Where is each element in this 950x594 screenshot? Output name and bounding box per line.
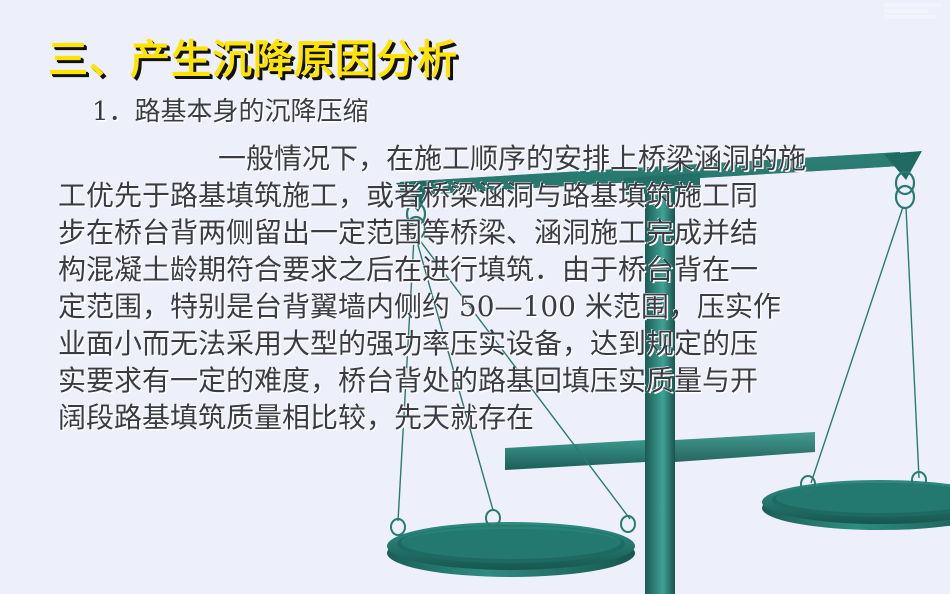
watermark-bar	[884, 9, 928, 13]
paragraph-line: 定范围，特别是台背翼墙内侧约 50—100 米范围，压实作	[58, 288, 938, 325]
paragraph-line: 步在桥台背两侧留出一定范围等桥梁、涵洞施工完成并结	[58, 214, 938, 251]
slide-text-layer: 三、产生沉降原因分析 1．路基本身的沉降压缩 一般情况下，在施工顺序的安排上桥梁…	[0, 0, 950, 594]
section-subheading: 1．路基本身的沉降压缩	[92, 95, 369, 129]
watermark-bar	[884, 3, 942, 7]
paragraph-line: 工优先于路基填筑施工，或者桥梁涵洞与路基填筑施工同	[58, 177, 938, 214]
paragraph-line: 实要求有一定的难度，桥台背处的路基回填压实质量与开	[58, 362, 938, 399]
paragraph-line: 构混凝土龄期符合要求之后在进行填筑．由于桥台背在一	[58, 251, 938, 288]
body-paragraph: 一般情况下，在施工顺序的安排上桥梁涵洞的施 工优先于路基填筑施工，或者桥梁涵洞与…	[58, 140, 938, 436]
page-title: 三、产生沉降原因分析	[48, 36, 458, 84]
paragraph-line: 业面小而无法采用大型的强功率压实设备，达到规定的压	[58, 325, 938, 362]
watermark-bar	[884, 15, 936, 19]
paragraph-line: 一般情况下，在施工顺序的安排上桥梁涵洞的施	[58, 140, 938, 177]
watermark-logo	[884, 3, 946, 23]
paragraph-line: 阔段路基填筑质量相比较，先天就存在	[58, 399, 938, 436]
presentation-slide: 三、产生沉降原因分析 1．路基本身的沉降压缩 一般情况下，在施工顺序的安排上桥梁…	[0, 0, 950, 594]
